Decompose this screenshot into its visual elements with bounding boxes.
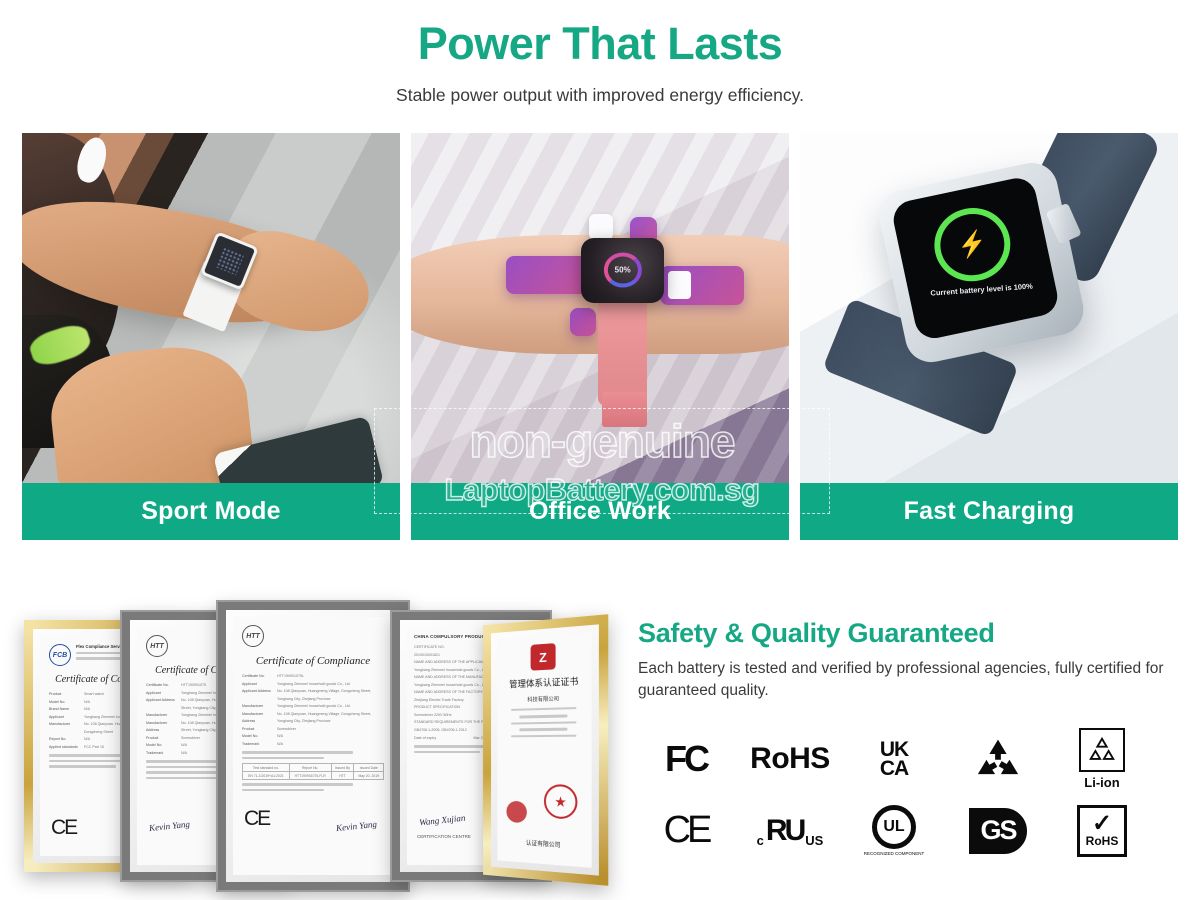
feature-card-fast-charging[interactable]: ⚡ Current battery level is 100% Fast Cha… xyxy=(800,133,1178,540)
table-header-row: Test standard no. Report No. Issued By I… xyxy=(243,764,384,772)
field-value: Yongkang Zhenmei household goods Co., Lt… xyxy=(277,681,384,689)
field-key: Certificate No. xyxy=(242,673,272,681)
rohs-box-icon: ✓ RoHS xyxy=(1077,805,1127,857)
gs-label: GS xyxy=(980,815,1015,846)
field-key: Manufacturer xyxy=(242,703,272,711)
rohs-tick-badge: ✓ RoHS xyxy=(1054,798,1150,864)
field-key: Trademark xyxy=(146,750,176,758)
field-key: Model No. xyxy=(146,742,176,750)
feature-card-office-work[interactable]: 50% Office Work xyxy=(411,133,789,540)
field-key: Applicant xyxy=(49,714,79,722)
htt-logo-icon: HTT xyxy=(146,635,168,657)
certificate-title: Certificate of Compliance xyxy=(242,655,384,667)
crus-icon: c RU US xyxy=(757,814,824,848)
ce-mark-icon: CE xyxy=(51,816,76,840)
field-key: Product xyxy=(242,726,272,734)
fcc-badge: FC xyxy=(638,726,734,792)
cell: HTT190901075-FLR xyxy=(289,772,331,780)
app-tile-settings xyxy=(570,308,596,336)
crus-suffix: US xyxy=(805,833,823,848)
ul-subtext: RECOGNIZED COMPONENT xyxy=(864,851,925,857)
ukca-badge: UK CA xyxy=(846,726,942,792)
field-value: HTT190901075L xyxy=(277,673,384,681)
watch-band-upper xyxy=(598,287,647,406)
feature-card-label: Office Work xyxy=(411,483,789,540)
ul-badge: UL RECOGNIZED COMPONENT xyxy=(846,798,942,864)
lightning-bolt-icon: ⚡ xyxy=(955,230,989,260)
smartwatch-face: 50% xyxy=(581,238,664,303)
li-ion-badge: Li-ion xyxy=(1054,726,1150,792)
field-key: Manufacturer Address xyxy=(242,711,272,726)
gs-badge: GS xyxy=(950,798,1046,864)
feature-card-label: Sport Mode xyxy=(22,483,400,540)
authorized-signature: Wang Xujian xyxy=(419,813,466,828)
feature-card-label: Fast Charging xyxy=(800,483,1178,540)
ul-circle-icon: UL xyxy=(872,805,916,849)
bottom-section: FCB Flex Compliance Services Certificate… xyxy=(0,600,1200,900)
certificate-fields: Certificate No.HTT190901075L ApplicantYo… xyxy=(242,673,384,748)
sport-mode-photo xyxy=(22,133,400,483)
secondary-stamp-icon xyxy=(506,801,526,823)
page-subtitle: Stable power output with improved energy… xyxy=(0,85,1200,106)
certification-office: CERTIFICATION CENTRE xyxy=(417,834,471,839)
htt-logo-icon: HTT xyxy=(242,625,264,647)
certification-badges: FC RoHS UK CA xyxy=(638,723,1170,867)
field-key: Model No. xyxy=(242,733,272,741)
certificate-iso: Z 管理体系认证证书 科技有限公司 ★ 认证有限公司 xyxy=(483,614,608,886)
rohs-badge: RoHS xyxy=(742,726,838,792)
crus-badge: c RU US xyxy=(742,798,838,864)
smartwatch-screen: ⚡ Current battery level is 100% xyxy=(889,175,1060,342)
cnas-logo-icon: Z xyxy=(531,643,556,671)
table-row: EN 71-3:2019+A1:2021 HTT190901075-FLR HT… xyxy=(243,772,384,780)
column-header: Issued Date xyxy=(354,764,384,772)
fcb-logo-icon: FCB xyxy=(49,644,71,666)
watch-band-lower xyxy=(602,392,647,427)
field-key: Applicant xyxy=(242,681,272,689)
field-key: Date of expiry xyxy=(414,735,469,743)
cell: HTT xyxy=(331,772,354,780)
field-key: Trademark xyxy=(242,741,272,749)
rohs-label: RoHS xyxy=(1086,834,1119,848)
ce-badge: CE xyxy=(638,798,734,864)
field-value: N/A xyxy=(277,733,384,741)
ukca-icon: UK CA xyxy=(880,740,908,779)
cell: May 20, 2019 xyxy=(354,772,384,780)
charging-ring-icon: ⚡ xyxy=(928,201,1017,288)
crus-main: RU xyxy=(766,814,803,848)
ce-icon: CE xyxy=(664,809,709,852)
progress-ring-icon: 50% xyxy=(604,253,642,288)
rohs-icon: RoHS xyxy=(750,742,830,776)
field-key: Applicant xyxy=(146,690,176,698)
certificate-ce: HTT Certificate of Compliance Certificat… xyxy=(218,602,408,890)
page-title: Power That Lasts xyxy=(0,18,1200,70)
field-key: Certificate No. xyxy=(146,682,176,690)
field-value: Screwdriver xyxy=(277,726,384,734)
field-key: Product xyxy=(49,691,79,699)
crus-prefix: c xyxy=(757,833,764,848)
certificate-title: 管理体系认证证书 xyxy=(503,674,586,691)
quality-body: Each battery is tested and verified by p… xyxy=(638,658,1170,703)
field-value: No. 108 Qianyuan, Huangmeng Village, Don… xyxy=(277,688,384,703)
certificate-subtitle: 科技有限公司 xyxy=(503,693,586,704)
ce-mark-icon: CE xyxy=(244,807,269,831)
li-ion-box-icon xyxy=(1079,728,1125,772)
field-key: Applicant Address xyxy=(242,688,272,703)
smartwatch-case: ⚡ Current battery level is 100% xyxy=(875,158,1089,367)
field-value: N/A xyxy=(277,741,384,749)
field-value: No. 108 Qianyuan, Huangmeng Village, Don… xyxy=(277,711,384,726)
column-header: Test standard no. xyxy=(243,764,290,772)
column-header: Issued By xyxy=(331,764,354,772)
fast-charging-photo: ⚡ Current battery level is 100% xyxy=(800,133,1178,483)
badge-row-2: CE c RU US UL RECOGNIZED COMPONENT xyxy=(638,795,1170,867)
field-key: Applicant Address xyxy=(146,697,176,712)
app-tile-slider xyxy=(506,256,589,295)
field-key: Manufacturer Address xyxy=(146,720,176,735)
cell: EN 71-3:2019+A1:2021 xyxy=(243,772,290,780)
page-header: Power That Lasts Stable power output wit… xyxy=(0,0,1200,106)
certificate-footer: 认证有限公司 xyxy=(505,837,584,851)
checkmark-icon: ✓ xyxy=(1092,814,1112,833)
battery-percent-value: 50% xyxy=(615,266,631,275)
field-key: Brand Name xyxy=(49,706,79,714)
authorized-signature: Kevin Yang xyxy=(149,819,191,833)
badge-row-1: FC RoHS UK CA xyxy=(638,723,1170,795)
gs-box-icon: GS xyxy=(969,808,1027,854)
field-key: Report No. xyxy=(49,736,79,744)
ukca-line-2: CA xyxy=(880,757,908,780)
battery-level-text: Current battery level is 100% xyxy=(930,282,1033,298)
app-tile-contact xyxy=(589,214,614,240)
authorized-signature: Kevin Yang xyxy=(336,819,378,833)
field-key: Applied standards xyxy=(49,744,79,752)
app-tile-chart xyxy=(668,271,691,299)
field-value: Yongkang Zhenmei household goods Co., Lt… xyxy=(277,703,384,711)
feature-card-sport-mode[interactable]: Sport Mode xyxy=(22,133,400,540)
ul-label: UL xyxy=(883,818,904,836)
quality-panel: Safety & Quality Guaranteed Each battery… xyxy=(610,600,1200,900)
li-ion-label: Li-ion xyxy=(1084,775,1119,790)
column-header: Report No. xyxy=(289,764,331,772)
certificate-table: Test standard no. Report No. Issued By I… xyxy=(242,763,384,780)
field-key: Manufacturer xyxy=(146,712,176,720)
office-work-photo: 50% xyxy=(411,133,789,483)
red-star-stamp-icon: ★ xyxy=(544,784,577,820)
fcc-icon: FC xyxy=(665,738,707,780)
recycle-outline-icon xyxy=(1087,736,1117,764)
certificate-collage: FCB Flex Compliance Services Certificate… xyxy=(0,600,610,900)
field-key: Manufacturer xyxy=(49,721,79,736)
field-key: Model No. xyxy=(49,699,79,707)
quality-heading: Safety & Quality Guaranteed xyxy=(638,618,1170,649)
feature-card-row: Sport Mode 50% Office Work xyxy=(22,133,1178,540)
recycle-icon xyxy=(975,738,1021,780)
field-key: Product xyxy=(146,735,176,743)
recycle-badge xyxy=(950,726,1046,792)
